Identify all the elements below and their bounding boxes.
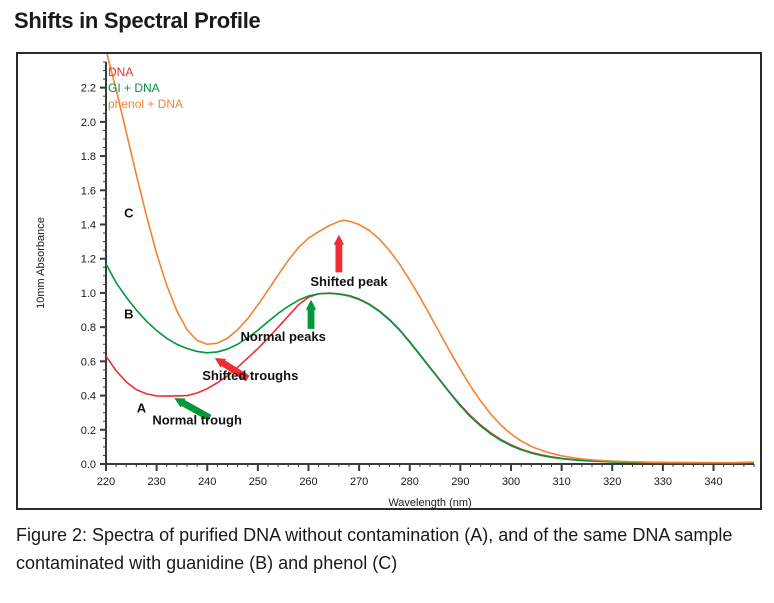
- svg-text:320: 320: [603, 476, 621, 488]
- svg-text:240: 240: [198, 476, 216, 488]
- svg-text:1.8: 1.8: [81, 151, 96, 163]
- legend: DNAGI + DNAphenol + DNA: [108, 65, 183, 111]
- svg-text:340: 340: [704, 476, 722, 488]
- svg-text:280: 280: [401, 476, 419, 488]
- spectral-plot: 0.00.20.40.60.81.01.21.41.61.82.02.2 220…: [18, 54, 760, 508]
- svg-text:A: A: [137, 401, 147, 416]
- svg-text:290: 290: [451, 476, 469, 488]
- svg-text:2.0: 2.0: [81, 117, 96, 129]
- svg-text:1.4: 1.4: [81, 220, 96, 232]
- svg-text:330: 330: [654, 476, 672, 488]
- svg-text:270: 270: [350, 476, 368, 488]
- curve-letter-labels: ABC: [124, 206, 147, 416]
- svg-text:1.2: 1.2: [81, 254, 96, 266]
- svg-text:220: 220: [97, 476, 115, 488]
- svg-text:0.8: 0.8: [81, 322, 96, 334]
- svg-text:Normal trough: Normal trough: [152, 413, 242, 428]
- spectra-curves: [106, 54, 754, 463]
- svg-text:0.0: 0.0: [81, 459, 96, 471]
- svg-text:300: 300: [502, 476, 520, 488]
- svg-text:310: 310: [552, 476, 570, 488]
- legend-item-0: DNA: [108, 65, 133, 79]
- svg-text:0.4: 0.4: [81, 391, 96, 403]
- svg-text:250: 250: [249, 476, 267, 488]
- svg-text:1.0: 1.0: [81, 288, 96, 300]
- figure-frame: 0.00.20.40.60.81.01.21.41.61.82.02.2 220…: [16, 52, 762, 510]
- y-axis-tick-labels: 0.00.20.40.60.81.01.21.41.61.82.02.2: [81, 83, 96, 471]
- figure-caption: Figure 2: Spectra of purified DNA withou…: [16, 521, 758, 577]
- x-axis-title: Wavelength (nm): [388, 497, 471, 508]
- svg-text:1.6: 1.6: [81, 185, 96, 197]
- page-title: Shifts in Spectral Profile: [14, 8, 260, 34]
- svg-text:Normal peaks: Normal peaks: [241, 329, 326, 344]
- svg-text:2.2: 2.2: [81, 83, 96, 95]
- svg-text:Shifted troughs: Shifted troughs: [202, 368, 298, 383]
- x-axis-tick-labels: 220230240250260270280290300310320330340: [97, 476, 723, 488]
- svg-text:B: B: [124, 307, 133, 322]
- legend-item-1: GI + DNA: [108, 81, 160, 95]
- svg-text:0.2: 0.2: [81, 425, 96, 437]
- y-axis-title: 10mm Absorbance: [35, 217, 47, 309]
- svg-text:0.6: 0.6: [81, 356, 96, 368]
- svg-text:Shifted peak: Shifted peak: [310, 274, 388, 289]
- svg-text:260: 260: [299, 476, 317, 488]
- svg-text:230: 230: [147, 476, 165, 488]
- svg-text:C: C: [124, 206, 134, 221]
- legend-item-2: phenol + DNA: [108, 97, 183, 111]
